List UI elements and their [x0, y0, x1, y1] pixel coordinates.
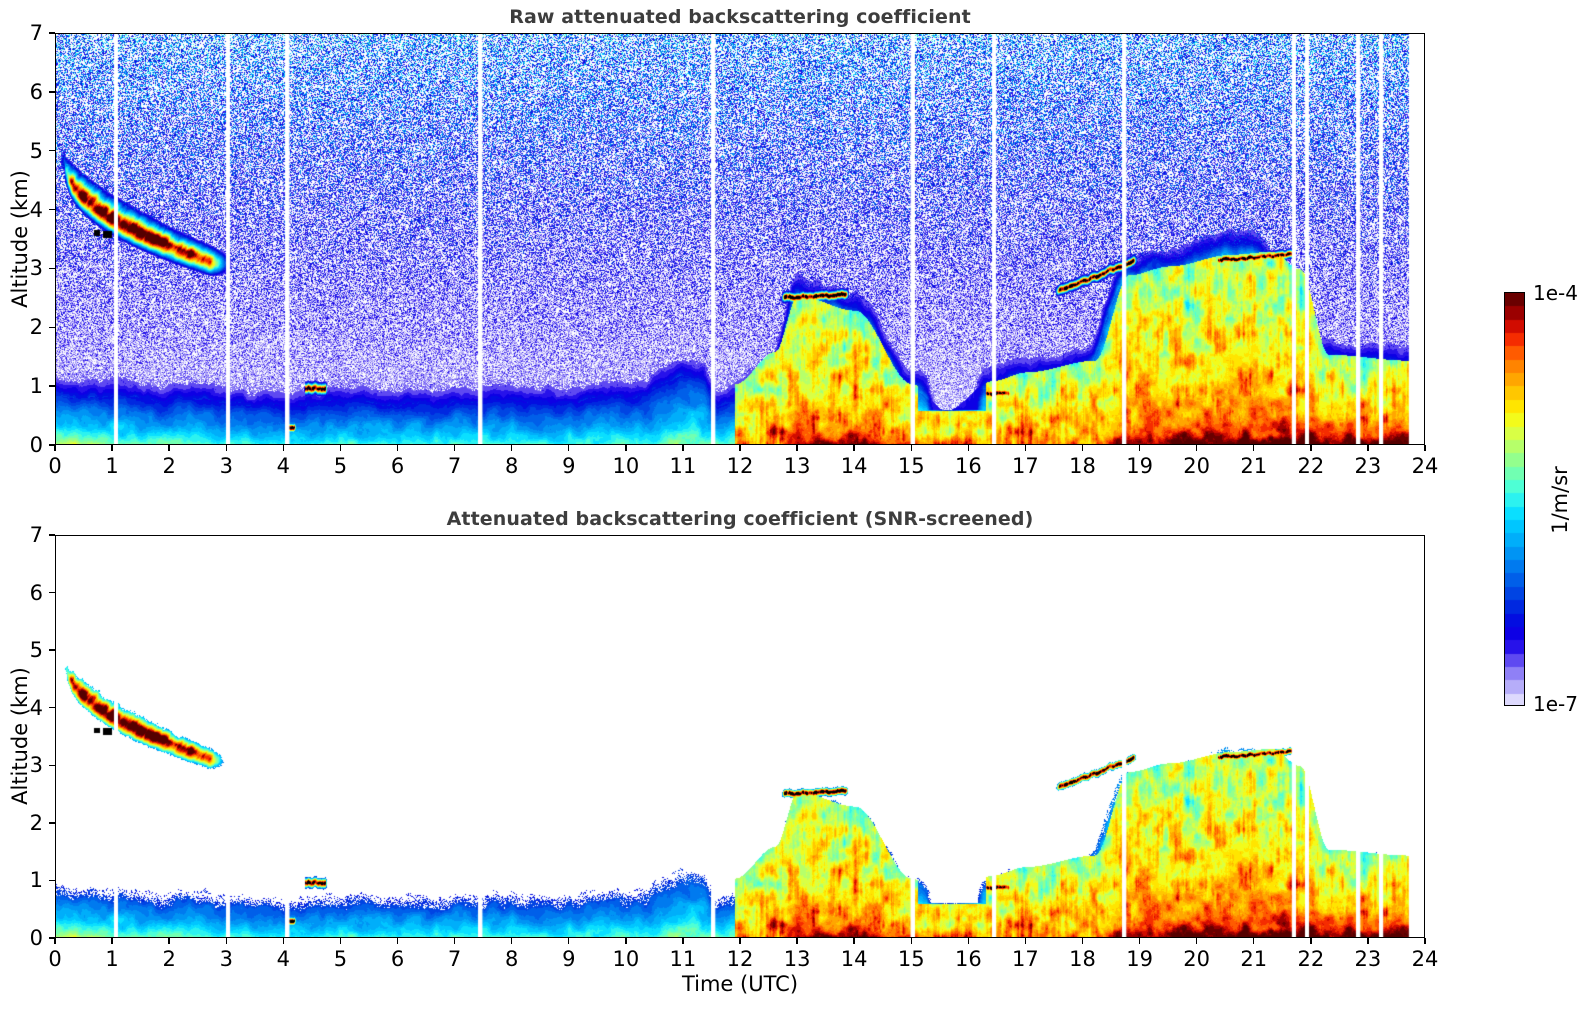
x-tick-label: 2: [162, 947, 175, 971]
y-tick-label: 6: [17, 581, 43, 605]
ylabel-raw: Altitude (km): [8, 170, 32, 308]
x-tick: [511, 938, 512, 944]
x-tick: [397, 445, 398, 451]
x-tick: [1025, 445, 1026, 451]
panel-title-screened: Attenuated backscattering coefficient (S…: [447, 508, 1034, 530]
x-tick-label: 4: [277, 454, 290, 478]
x-tick-label: 7: [448, 947, 461, 971]
x-tick: [968, 445, 969, 451]
x-tick-label: 5: [334, 947, 347, 971]
x-tick-label: 23: [1355, 947, 1382, 971]
panel-title-raw: Raw attenuated backscattering coefficien…: [509, 6, 971, 28]
x-tick-label: 21: [1240, 947, 1267, 971]
x-tick-label: 2: [162, 454, 175, 478]
plot-area-raw: [55, 33, 1425, 445]
x-tick-label: 24: [1412, 454, 1439, 478]
x-tick-label: 14: [841, 454, 868, 478]
x-tick-label: 8: [505, 454, 518, 478]
x-tick-label: 19: [1126, 454, 1153, 478]
x-tick: [1139, 938, 1140, 944]
x-tick-label: 17: [1012, 947, 1039, 971]
y-tick-label: 6: [17, 80, 43, 104]
x-tick-label: 0: [48, 454, 61, 478]
x-tick-label: 12: [727, 454, 754, 478]
x-tick-label: 11: [670, 454, 697, 478]
x-tick: [625, 938, 626, 944]
y-tick: [49, 444, 55, 445]
x-tick-label: 3: [220, 947, 233, 971]
x-tick: [340, 938, 341, 944]
x-tick: [568, 445, 569, 451]
x-tick-label: 11: [670, 947, 697, 971]
x-tick-label: 12: [727, 947, 754, 971]
x-tick: [1025, 938, 1026, 944]
x-tick-label: 1: [105, 947, 118, 971]
x-tick: [168, 445, 169, 451]
x-tick-label: 5: [334, 454, 347, 478]
x-tick: [397, 938, 398, 944]
x-tick-label: 13: [784, 947, 811, 971]
colorbar-gradient: [1504, 292, 1525, 706]
y-tick: [49, 937, 55, 938]
x-tick: [1367, 445, 1368, 451]
x-tick: [226, 445, 227, 451]
y-tick-label: 0: [17, 926, 43, 950]
x-tick-label: 20: [1183, 454, 1210, 478]
x-tick: [796, 938, 797, 944]
lidar-quicklook-figure: Raw attenuated backscattering coefficien…: [0, 0, 1595, 1020]
x-tick-label: 13: [784, 454, 811, 478]
x-tick: [283, 445, 284, 451]
x-tick: [1082, 445, 1083, 451]
x-tick: [454, 445, 455, 451]
y-tick-label: 2: [17, 315, 43, 339]
xlabel-time: Time (UTC): [682, 972, 798, 996]
y-tick: [49, 209, 55, 210]
x-tick: [1424, 445, 1425, 451]
x-tick: [911, 445, 912, 451]
x-tick-label: 17: [1012, 454, 1039, 478]
y-tick: [49, 707, 55, 708]
x-tick: [1310, 938, 1311, 944]
x-tick: [168, 938, 169, 944]
x-tick: [968, 938, 969, 944]
x-tick-label: 1: [105, 454, 118, 478]
x-tick-label: 15: [898, 947, 925, 971]
colorbar-title: 1/m/sr: [1548, 466, 1572, 534]
x-tick: [739, 938, 740, 944]
x-tick: [111, 938, 112, 944]
x-tick-label: 9: [562, 454, 575, 478]
x-tick-label: 18: [1069, 454, 1096, 478]
y-tick: [49, 32, 55, 33]
x-tick-label: 16: [955, 947, 982, 971]
y-tick-label: 1: [17, 374, 43, 398]
x-tick: [54, 938, 55, 944]
x-tick-label: 6: [391, 947, 404, 971]
x-tick-label: 10: [612, 454, 639, 478]
x-tick-label: 18: [1069, 947, 1096, 971]
x-tick: [853, 445, 854, 451]
x-tick: [682, 938, 683, 944]
x-tick: [796, 445, 797, 451]
x-tick: [682, 445, 683, 451]
y-tick: [49, 385, 55, 386]
x-tick: [340, 445, 341, 451]
x-tick-label: 22: [1297, 947, 1324, 971]
y-tick: [49, 822, 55, 823]
colorbar-max-label: 1e-4: [1533, 281, 1578, 305]
x-tick: [568, 938, 569, 944]
y-tick-label: 5: [17, 139, 43, 163]
x-tick-label: 6: [391, 454, 404, 478]
x-tick-label: 7: [448, 454, 461, 478]
y-tick-label: 7: [17, 523, 43, 547]
x-tick: [1367, 938, 1368, 944]
y-tick-label: 1: [17, 868, 43, 892]
y-tick: [49, 880, 55, 881]
x-tick: [853, 938, 854, 944]
y-tick: [49, 592, 55, 593]
x-tick-label: 10: [612, 947, 639, 971]
y-tick: [49, 649, 55, 650]
x-tick: [1253, 938, 1254, 944]
x-tick-label: 14: [841, 947, 868, 971]
y-tick: [49, 534, 55, 535]
x-tick: [54, 445, 55, 451]
x-tick: [283, 938, 284, 944]
y-tick-label: 7: [17, 21, 43, 45]
x-tick-label: 8: [505, 947, 518, 971]
x-tick-label: 20: [1183, 947, 1210, 971]
x-tick: [511, 445, 512, 451]
x-tick-label: 16: [955, 454, 982, 478]
y-tick-label: 2: [17, 811, 43, 835]
x-tick-label: 23: [1355, 454, 1382, 478]
x-tick-label: 3: [220, 454, 233, 478]
x-tick: [1196, 445, 1197, 451]
y-tick-label: 5: [17, 638, 43, 662]
x-tick: [226, 938, 227, 944]
x-tick-label: 0: [48, 947, 61, 971]
x-tick-label: 24: [1412, 947, 1439, 971]
x-tick: [1196, 938, 1197, 944]
x-tick-label: 21: [1240, 454, 1267, 478]
colorbar-min-label: 1e-7: [1533, 692, 1578, 716]
y-tick: [49, 268, 55, 269]
plot-area-screened: [55, 535, 1425, 938]
x-tick-label: 19: [1126, 947, 1153, 971]
y-tick: [49, 765, 55, 766]
y-tick: [49, 327, 55, 328]
x-tick-label: 22: [1297, 454, 1324, 478]
x-tick-label: 9: [562, 947, 575, 971]
x-tick: [111, 445, 112, 451]
x-tick-label: 15: [898, 454, 925, 478]
ylabel-screened: Altitude (km): [8, 667, 32, 805]
x-tick-label: 4: [277, 947, 290, 971]
x-tick: [1253, 445, 1254, 451]
x-tick: [739, 445, 740, 451]
x-tick: [1424, 938, 1425, 944]
x-tick: [454, 938, 455, 944]
x-tick: [1310, 445, 1311, 451]
x-tick: [911, 938, 912, 944]
y-tick: [49, 91, 55, 92]
y-tick: [49, 150, 55, 151]
y-tick-label: 0: [17, 433, 43, 457]
x-tick: [1082, 938, 1083, 944]
x-tick: [1139, 445, 1140, 451]
x-tick: [625, 445, 626, 451]
